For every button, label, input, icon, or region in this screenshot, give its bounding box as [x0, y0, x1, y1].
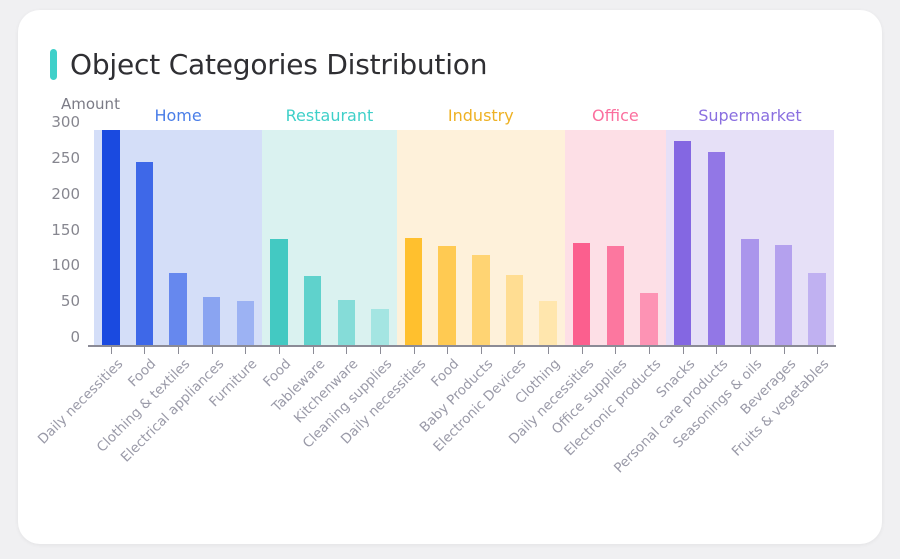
- bar[interactable]: [304, 276, 321, 345]
- y-tick-label: 100: [51, 256, 80, 274]
- x-tick: [346, 347, 347, 354]
- bar[interactable]: [472, 255, 489, 345]
- x-tick: [784, 347, 785, 354]
- x-tick: [178, 347, 179, 354]
- bar[interactable]: [136, 162, 153, 345]
- y-tick-label: 300: [51, 113, 80, 131]
- y-tick-label: 200: [51, 185, 80, 203]
- bar[interactable]: [607, 246, 624, 345]
- chart-plot-area: Amount 050100150200250300 HomeRestaurant…: [18, 10, 882, 544]
- x-tick: [245, 347, 246, 354]
- bar[interactable]: [169, 273, 186, 345]
- y-tick-label: 50: [61, 292, 80, 310]
- group-label-restaurant: Restaurant: [286, 106, 374, 125]
- bar[interactable]: [102, 130, 119, 345]
- bar[interactable]: [338, 300, 355, 345]
- x-tick: [514, 347, 515, 354]
- x-tick: [111, 347, 112, 354]
- bar[interactable]: [808, 273, 825, 345]
- x-tick: [144, 347, 145, 354]
- bar[interactable]: [438, 246, 455, 345]
- x-tick: [582, 347, 583, 354]
- y-axis-tick-labels: 050100150200250300: [28, 122, 80, 337]
- x-tick: [414, 347, 415, 354]
- x-tick: [548, 347, 549, 354]
- x-tick: [750, 347, 751, 354]
- x-tick: [380, 347, 381, 354]
- bars-plot: HomeRestaurantIndustryOfficeSupermarket: [94, 130, 834, 345]
- x-tick: [716, 347, 717, 354]
- y-axis-title: Amount: [61, 95, 120, 113]
- bar[interactable]: [237, 301, 254, 345]
- x-tick: [481, 347, 482, 354]
- x-tick: [212, 347, 213, 354]
- bar[interactable]: [640, 293, 657, 345]
- x-tick: [649, 347, 650, 354]
- y-tick-label: 250: [51, 149, 80, 167]
- y-tick-label: 0: [70, 328, 80, 346]
- x-tick: [615, 347, 616, 354]
- x-tick: [313, 347, 314, 354]
- x-tick: [279, 347, 280, 354]
- bar[interactable]: [506, 275, 523, 345]
- bar[interactable]: [539, 301, 556, 345]
- chart-card: Object Categories Distribution Amount 05…: [18, 10, 882, 544]
- bar[interactable]: [708, 152, 725, 346]
- bar[interactable]: [203, 297, 220, 345]
- group-label-home: Home: [154, 106, 201, 125]
- x-tick: [683, 347, 684, 354]
- bar[interactable]: [371, 309, 388, 345]
- y-tick-label: 150: [51, 221, 80, 239]
- bar[interactable]: [741, 239, 758, 345]
- bar[interactable]: [270, 239, 287, 345]
- group-label-office: Office: [592, 106, 639, 125]
- x-tick: [447, 347, 448, 354]
- bar[interactable]: [775, 245, 792, 345]
- bar[interactable]: [674, 141, 691, 345]
- group-label-supermarket: Supermarket: [698, 106, 801, 125]
- group-label-industry: Industry: [448, 106, 514, 125]
- x-axis-tick-labels: Daily necessitiesFoodClothing & textiles…: [94, 356, 834, 536]
- bar[interactable]: [405, 238, 422, 346]
- x-tick: [817, 347, 818, 354]
- bar[interactable]: [573, 243, 590, 345]
- x-axis-line: [88, 345, 836, 347]
